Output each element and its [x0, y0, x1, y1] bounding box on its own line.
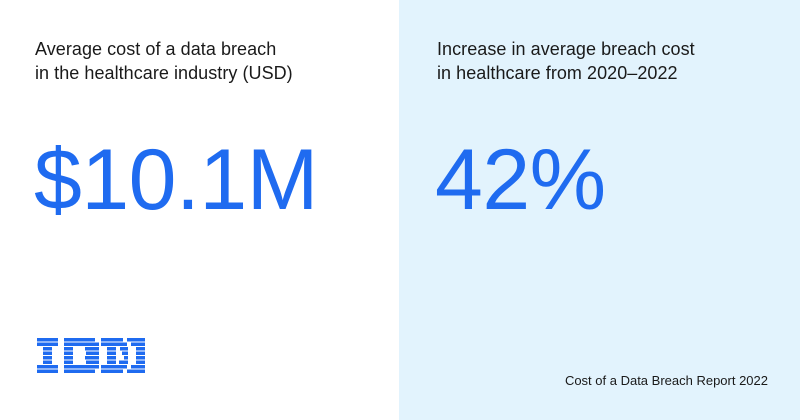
ibm-logo: [37, 338, 145, 373]
panel-right-stat-value: 42%: [435, 137, 606, 223]
panel-right-heading: Increase in average breach cost in healt…: [437, 37, 695, 85]
report-source-note: Cost of a Data Breach Report 2022: [565, 372, 768, 390]
stat-panel-left: Average cost of a data breach in the hea…: [0, 0, 399, 420]
panel-left-stat-value: $10.1M: [34, 137, 318, 223]
infographic-canvas: Average cost of a data breach in the hea…: [0, 0, 800, 420]
panel-left-heading: Average cost of a data breach in the hea…: [35, 37, 293, 85]
stat-panel-right: Increase in average breach cost in healt…: [399, 0, 800, 420]
